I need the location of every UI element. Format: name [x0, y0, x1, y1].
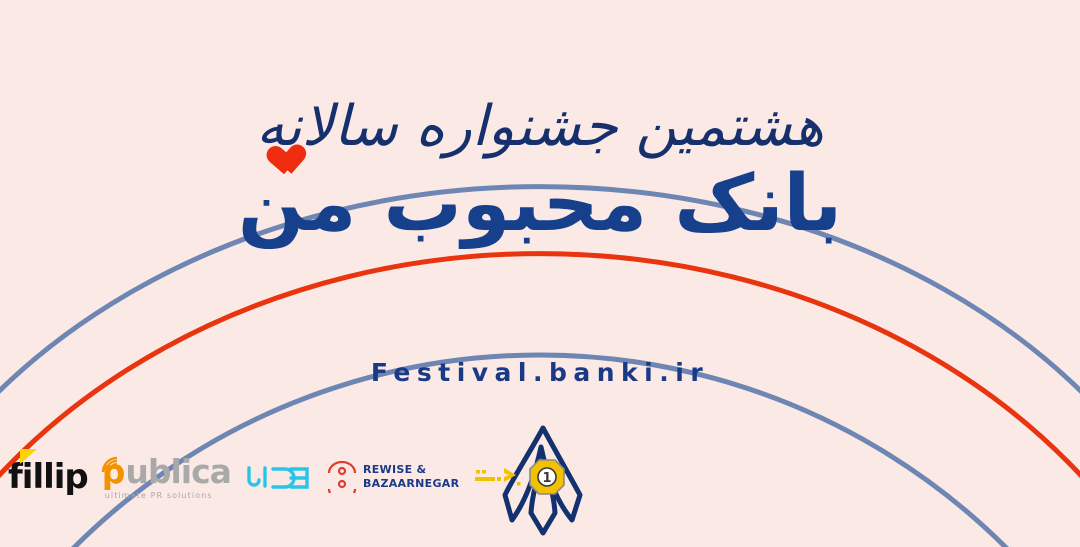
publica-tagline: ultimate PR solutions — [105, 491, 213, 500]
sponsor-logo-publica[interactable]: p ublica ultimate PR solutions — [102, 451, 231, 503]
rewise-line-1: REWISE & — [363, 463, 459, 477]
yektanet-badge-icon: 1 — [528, 458, 566, 496]
festival-title: بانک محبوب من — [238, 164, 842, 246]
sponsor-logo-strip: fillip p ublica ultimate PR solutions — [8, 447, 566, 507]
wifi-icon — [100, 455, 120, 475]
rewise-line-2: BAZAARNEGAR — [363, 477, 459, 491]
title-wrap: بانک محبوب من — [238, 164, 842, 246]
rewise-wordmark: REWISE & BAZAARNEGAR — [363, 463, 459, 491]
festival-banner: هشتمین جشنواره سالانه بانک محبوب من Fest… — [0, 0, 1080, 547]
festival-url[interactable]: Festival.banki.ir — [0, 358, 1080, 387]
publica-row: p ublica — [102, 455, 231, 488]
heart-icon — [259, 132, 295, 165]
sponsor-logo-yektanet[interactable]: 1 — [473, 451, 566, 503]
yektanet-wordmark-icon — [473, 464, 525, 490]
headline-block: هشتمین جشنواره سالانه بانک محبوب من — [0, 96, 1080, 245]
sponsor-logo-jdb[interactable] — [245, 451, 313, 503]
sponsor-logo-fillip[interactable]: fillip — [8, 451, 88, 503]
triangle-icon — [20, 449, 37, 464]
sponsor-logo-rewise[interactable]: REWISE & BAZAARNEGAR — [327, 451, 459, 503]
rewise-mark-icon — [327, 461, 357, 493]
publica-wordmark: ublica — [125, 455, 231, 488]
fillip-wordmark: fillip — [8, 460, 88, 494]
festival-subtitle: هشتمین جشنواره سالانه — [0, 96, 1080, 158]
jdb-mark-icon — [245, 460, 313, 494]
yektanet-badge-number: 1 — [543, 471, 552, 486]
